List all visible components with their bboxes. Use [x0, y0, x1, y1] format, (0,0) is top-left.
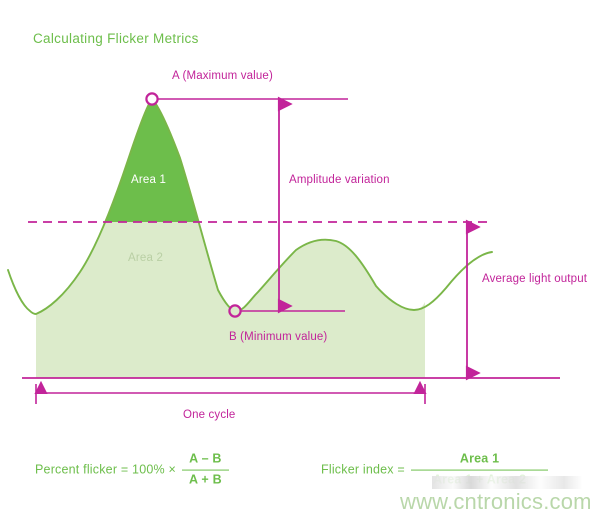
- one-cycle-label: One cycle: [183, 409, 235, 421]
- percent-flicker-formula: Percent flicker = 100% × A – B A + B: [35, 452, 229, 489]
- marker-b-minimum[interactable]: [229, 305, 240, 316]
- flicker-metrics-diagram: Calculating Flicker Metrics: [0, 0, 600, 515]
- flicker-index-formula: Flicker index = Area 1 Area 1 + Area 2: [321, 452, 548, 489]
- diagram-canvas: [0, 0, 600, 515]
- area-1-label: Area 1: [131, 174, 166, 186]
- percent-flicker-denominator: A + B: [182, 473, 229, 489]
- minimum-value-label: B (Minimum value): [229, 331, 327, 343]
- flicker-index-lead: Flicker index =: [321, 463, 405, 477]
- flicker-index-denominator: Area 1 + Area 2: [411, 473, 548, 489]
- percent-flicker-lead: Percent flicker = 100% ×: [35, 463, 176, 477]
- flicker-index-numerator: Area 1: [438, 452, 521, 468]
- flicker-index-fraction: Area 1 Area 1 + Area 2: [411, 452, 548, 489]
- amplitude-variation-label: Amplitude variation: [289, 174, 390, 186]
- maximum-value-label: A (Maximum value): [172, 70, 273, 82]
- average-light-output-label: Average light output: [482, 273, 587, 285]
- fraction-bar: [182, 469, 229, 471]
- percent-flicker-numerator: A – B: [182, 452, 229, 468]
- marker-a-maximum[interactable]: [146, 93, 157, 104]
- fraction-bar: [411, 469, 548, 471]
- area-2-label: Area 2: [128, 252, 163, 264]
- percent-flicker-fraction: A – B A + B: [182, 452, 229, 489]
